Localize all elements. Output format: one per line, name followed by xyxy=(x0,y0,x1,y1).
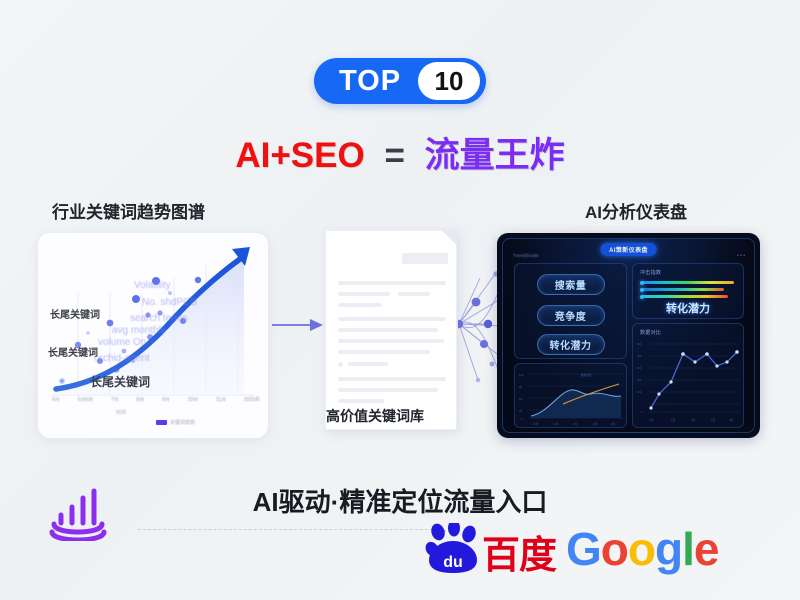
svg-text:2月: 2月 xyxy=(671,418,675,422)
chart-x-tick: 5月6月 xyxy=(78,396,94,403)
chart-x-tick: 8月 xyxy=(136,396,144,403)
svg-text:300: 300 xyxy=(637,366,642,370)
svg-text:400: 400 xyxy=(637,354,642,358)
google-logo: G o o g l e xyxy=(566,526,718,572)
bottom-tagline: AI驱动·精准定位流量入口 xyxy=(0,482,800,519)
top-badge-label: TOP xyxy=(314,65,418,98)
baidu-paw-icon: du xyxy=(425,523,481,575)
data-panel-title: 数据对比 xyxy=(640,329,661,336)
svg-text:500: 500 xyxy=(637,342,642,346)
svg-text:90: 90 xyxy=(519,385,522,389)
dashboard-brand-label: TrendScale xyxy=(513,253,539,258)
baidu-wordmark: 百度 xyxy=(482,537,556,575)
chart-x-tick: 2025年 xyxy=(244,396,260,403)
flow-arrow-icon xyxy=(272,318,324,332)
svg-text:0: 0 xyxy=(641,410,643,414)
slide-canvas: TOP 10 AI+SEO = 流量王炸 行业关键词趋势图谱 AI分析仪表盘 xyxy=(0,0,800,600)
google-letter: l xyxy=(682,526,694,572)
svg-text:3月: 3月 xyxy=(691,418,695,422)
dashboard-menu-icon[interactable]: • • • xyxy=(737,253,745,259)
svg-text:100: 100 xyxy=(637,390,642,394)
svg-text:4月: 4月 xyxy=(711,418,715,422)
svg-text:30: 30 xyxy=(519,409,522,413)
dashboard-line-chart: 500400 300200 1000 1月2月 3月4月5月 xyxy=(633,324,745,429)
chart-legend-label: 关键词趋势 xyxy=(170,419,195,426)
dashboard-metric-panel: 搜索量 竞争度 转化潜力 xyxy=(514,263,627,359)
svg-text:2月: 2月 xyxy=(593,422,597,426)
dashboard-area-chart: 12090 60300 11月12月 1月2月3月 趋势对比 xyxy=(515,364,628,429)
chart-legend: 关键词趋势 xyxy=(156,419,195,426)
page-title: AI+SEO = 流量王炸 xyxy=(0,127,800,178)
chart-legend-swatch xyxy=(156,420,167,425)
chart-keyword-label: 长尾关键词 xyxy=(90,373,150,390)
svg-text:1月: 1月 xyxy=(573,422,577,426)
google-letter: o xyxy=(628,526,655,572)
google-letter: g xyxy=(655,526,682,572)
chart-x-tick: 10月 xyxy=(188,396,199,403)
document-sheet xyxy=(325,230,457,430)
dashboard-trend-chart-panel: 12090 60300 11月12月 1月2月3月 趋势对比 xyxy=(514,363,627,428)
keyword-library-document: 高价值关键词库 xyxy=(325,230,465,440)
svg-text:11月: 11月 xyxy=(533,422,539,426)
svg-text:12月: 12月 xyxy=(553,422,559,426)
chart-x-tick: 7月 xyxy=(111,396,119,403)
chart-x-tick-row: 4月 5月6月 7月 8月 9月 10月 11月 2025年 xyxy=(52,396,260,403)
title-equals-sign: = xyxy=(384,136,404,175)
svg-text:60: 60 xyxy=(519,397,522,401)
chart-x-tick: 4月 xyxy=(52,396,60,403)
chart-keyword-label: 长尾关键词 xyxy=(50,306,100,321)
heat-panel-title: 冲击指数 xyxy=(640,269,661,276)
right-section-caption: AI分析仪表盘 xyxy=(585,198,687,223)
top-rank-badge: TOP 10 xyxy=(314,58,486,104)
metric-pill-conversion[interactable]: 转化潜力 xyxy=(537,334,605,355)
baidu-logo: du 百度 xyxy=(425,523,556,575)
top-badge-number: 10 xyxy=(418,62,480,100)
dashboard-trend-legend: 趋势对比 xyxy=(581,373,592,377)
svg-text:0: 0 xyxy=(521,417,523,421)
document-caption: 高价值关键词库 xyxy=(326,406,466,426)
svg-text:3月: 3月 xyxy=(611,422,615,426)
keyword-trend-chart-card: 长尾关键词 长尾关键词 长尾关键词 Volatility No. shdPCB … xyxy=(38,233,268,438)
ai-dashboard-panel: AI策新仪表盘 TrendScale • • • 搜索量 竞争度 转化潜力 xyxy=(497,233,760,438)
svg-text:120: 120 xyxy=(519,373,524,377)
dashboard-heat-panel: 冲击指数 转化潜力 xyxy=(632,263,744,319)
baidu-du-text: du xyxy=(443,554,463,571)
metric-pill-competition[interactable]: 竞争度 xyxy=(537,305,605,326)
google-letter: G xyxy=(566,526,601,572)
heat-gradient-bar xyxy=(642,281,734,284)
chart-x-tick: 9月 xyxy=(162,396,170,403)
google-letter: o xyxy=(601,526,628,572)
dashboard-data-panel: 数据对比 xyxy=(632,323,744,428)
svg-text:200: 200 xyxy=(637,378,642,382)
heat-bar-dot xyxy=(640,295,644,299)
metric-pill-search-volume[interactable]: 搜索量 xyxy=(537,274,605,295)
heat-overlay-label: 转化潜力 xyxy=(633,300,743,316)
svg-text:1月: 1月 xyxy=(649,418,653,422)
dashboard-title-badge: AI策新仪表盘 xyxy=(600,243,657,256)
heat-gradient-bar xyxy=(642,295,728,298)
svg-text:5月: 5月 xyxy=(729,418,733,422)
left-section-caption: 行业关键词趋势图谱 xyxy=(52,198,205,223)
google-letter: e xyxy=(694,526,719,572)
chart-x-tick: 11月 xyxy=(216,396,226,403)
heat-bar-dot xyxy=(640,281,644,285)
chart-x-axis-label: 时间 xyxy=(116,409,126,416)
flow-dashed-line xyxy=(138,529,438,530)
chart-keyword-label: 长尾关键词 xyxy=(48,344,98,359)
dashboard-frame: AI策新仪表盘 TrendScale • • • 搜索量 竞争度 转化潜力 xyxy=(502,238,755,433)
title-part-traffic: 流量王炸 xyxy=(425,136,565,175)
heat-gradient-bar xyxy=(642,288,724,291)
title-part-ai-seo: AI+SEO xyxy=(235,136,364,175)
search-engine-logos: du 百度 G o o g l e xyxy=(425,523,719,575)
heat-bar-dot xyxy=(640,288,644,292)
